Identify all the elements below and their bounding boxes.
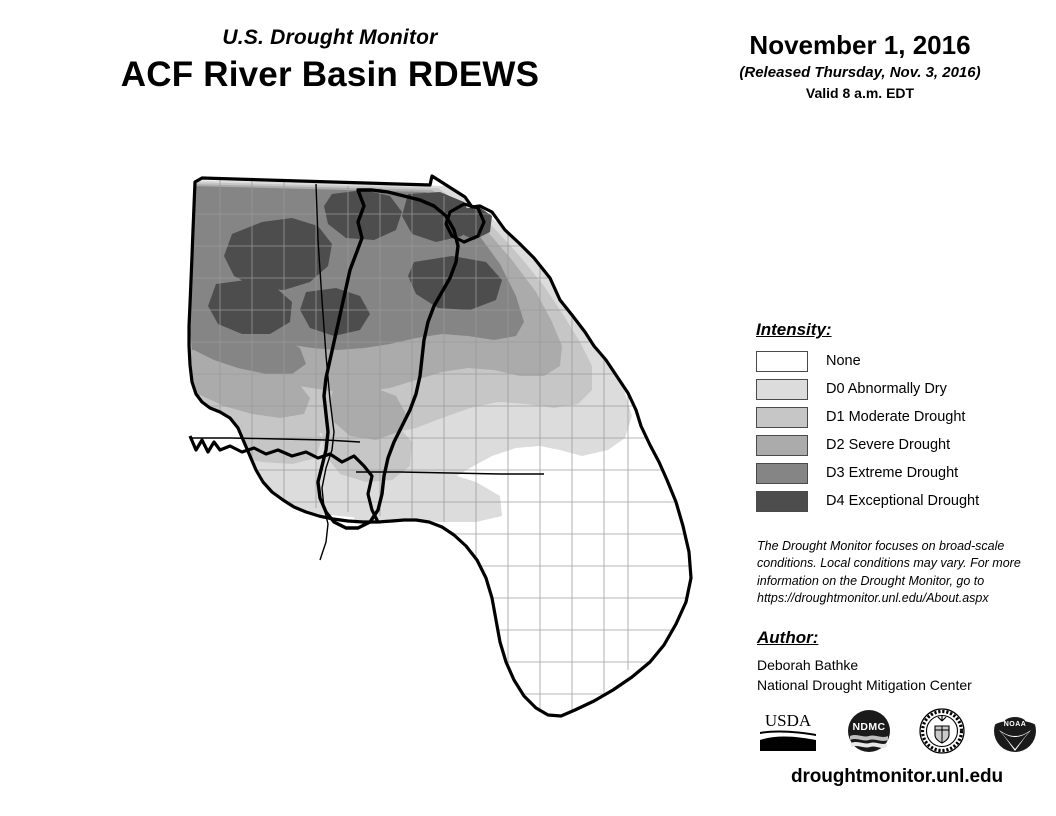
legend-item-d4[interactable]: D4 Exceptional Drought: [756, 489, 1036, 513]
legend-swatch-d4: [756, 491, 808, 512]
usdc-seal-logo: [919, 708, 965, 754]
legend-swatch-d2: [756, 435, 808, 456]
author-name: Deborah Bathke: [757, 656, 1037, 676]
legend-label-d1: D1 Moderate Drought: [826, 409, 965, 425]
legend-swatch-d3: [756, 463, 808, 484]
usda-logo: USDA: [757, 709, 819, 753]
legend-label-d3: D3 Extreme Drought: [826, 465, 958, 481]
legend-label-d4: D4 Exceptional Drought: [826, 493, 979, 509]
map-svg: [120, 150, 740, 800]
author-affiliation: National Drought Mitigation Center: [757, 676, 1037, 696]
legend: Intensity: None D0 Abnormally Dry D1 Mod…: [756, 320, 1036, 517]
logo-row: USDA NDMC NOAA: [757, 705, 1037, 757]
author-heading: Author:: [757, 628, 1037, 648]
legend-swatch-none: [756, 351, 808, 372]
legend-label-d2: D2 Severe Drought: [826, 437, 950, 453]
map-land: [120, 150, 740, 800]
svg-text:NOAA: NOAA: [1004, 721, 1027, 728]
page-title: ACF River Basin RDEWS: [0, 55, 660, 95]
legend-item-d2[interactable]: D2 Severe Drought: [756, 433, 1036, 457]
svg-text:NDMC: NDMC: [852, 721, 885, 733]
site-url[interactable]: droughtmonitor.unl.edu: [756, 766, 1038, 788]
valid-time: Valid 8 a.m. EDT: [690, 85, 1030, 101]
header-right: November 1, 2016 (Released Thursday, Nov…: [690, 30, 1030, 101]
legend-swatch-d0: [756, 379, 808, 400]
header-left: U.S. Drought Monitor ACF River Basin RDE…: [0, 26, 660, 95]
legend-item-d1[interactable]: D1 Moderate Drought: [756, 405, 1036, 429]
legend-item-d0[interactable]: D0 Abnormally Dry: [756, 377, 1036, 401]
disclaimer-text: The Drought Monitor focuses on broad-sca…: [757, 538, 1025, 607]
legend-heading: Intensity:: [756, 320, 1036, 340]
legend-swatch-d1: [756, 407, 808, 428]
release-date: (Released Thursday, Nov. 3, 2016): [690, 64, 1030, 81]
legend-item-none[interactable]: None: [756, 349, 1036, 373]
map-date: November 1, 2016: [690, 30, 1030, 61]
legend-label-none: None: [826, 353, 861, 369]
ndmc-logo: NDMC: [847, 709, 891, 753]
author-block: Author: Deborah Bathke National Drought …: [757, 628, 1037, 696]
drought-map: [120, 150, 740, 800]
svg-text:USDA: USDA: [765, 711, 812, 730]
legend-label-d0: D0 Abnormally Dry: [826, 381, 947, 397]
dm-subtitle: U.S. Drought Monitor: [0, 26, 660, 50]
legend-item-d3[interactable]: D3 Extreme Drought: [756, 461, 1036, 485]
drought-area-d0-panhandle: [350, 480, 422, 546]
noaa-logo: NOAA: [993, 709, 1037, 753]
